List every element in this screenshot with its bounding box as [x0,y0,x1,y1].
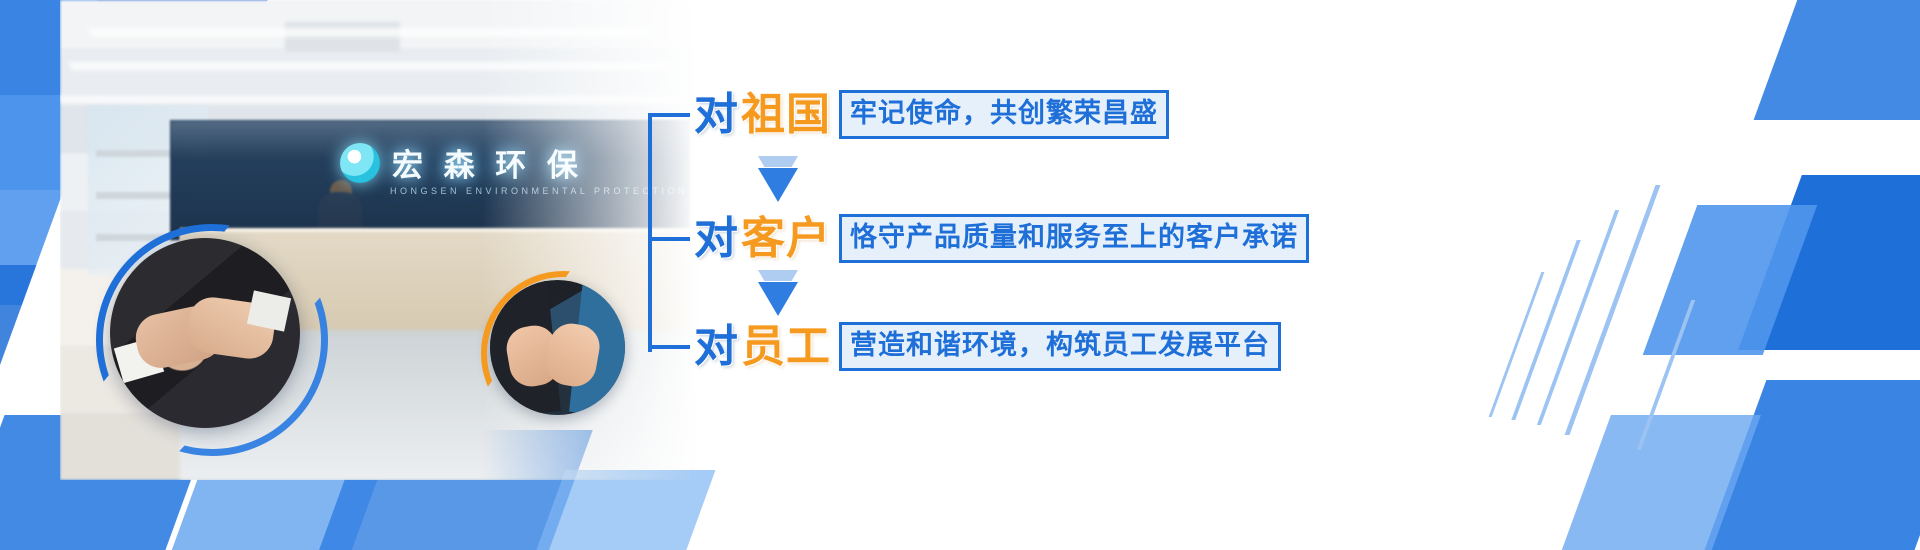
ceiling-light-2 [68,62,671,70]
ceiling-vent [285,22,400,52]
value-label-country: 对 祖国 [694,93,831,137]
value-keyword: 员工 [741,325,831,369]
company-sign-text: 宏 森 环 保 [392,140,584,185]
decor-shape-bottom-right-2 [1549,415,1761,550]
decor-shape-bottom-right-1 [1694,380,1920,550]
decor-stroke-4 [1489,272,1545,417]
value-keyword: 祖国 [741,93,831,137]
decor-shape-top-right-1 [1754,0,1920,120]
value-row-employee: 对 员工 营造和谐环境，构筑员工发展平台 [648,322,1281,371]
globe-logo-icon [340,143,380,183]
ceiling-light-3 [60,96,681,103]
value-row-country: 对 祖国 牢记使命，共创繁荣昌盛 [648,90,1169,139]
down-arrow-icon-1 [758,156,798,202]
arrow-body [758,168,798,202]
value-label-customer: 对 客户 [694,217,831,261]
arrow-cap [758,270,798,281]
company-signage: 宏 森 环 保 [340,140,584,185]
decor-shape-left-2 [0,265,36,465]
decor-stroke-5 [1637,300,1696,450]
value-statement-country: 牢记使命，共创繁荣昌盛 [839,90,1169,139]
value-statement-employee: 营造和谐环境，构筑员工发展平台 [839,322,1281,371]
company-values-banner: 宏 森 环 保 HONGSEN ENVIRONMENTAL PROTECTION… [0,0,1920,550]
down-arrow-icon-2 [758,270,798,316]
value-row-tick [648,113,690,117]
value-label-employee: 对 员工 [694,325,831,369]
decor-shape-bottom-left-4 [515,470,716,550]
value-row-customer: 对 客户 恪守产品质量和服务至上的客户承诺 [648,214,1309,263]
arrow-cap [758,156,798,167]
value-row-tick [648,345,690,349]
value-prefix: 对 [694,217,739,261]
company-sign-subtext: HONGSEN ENVIRONMENTAL PROTECTION [390,186,688,196]
value-prefix: 对 [694,93,739,137]
arrow-body [758,282,798,316]
values-list: 对 祖国 牢记使命，共创繁荣昌盛 对 客户 恪守产品质量和服务至上的客户承诺 对 [648,78,1408,388]
decor-shape-right-1 [1738,175,1920,350]
value-prefix: 对 [694,325,739,369]
ceiling-light-1 [88,28,653,37]
value-row-tick [648,237,690,241]
value-statement-customer: 恪守产品质量和服务至上的客户承诺 [839,214,1309,263]
decor-shape-right-2 [1643,205,1818,355]
value-keyword: 客户 [741,217,831,261]
